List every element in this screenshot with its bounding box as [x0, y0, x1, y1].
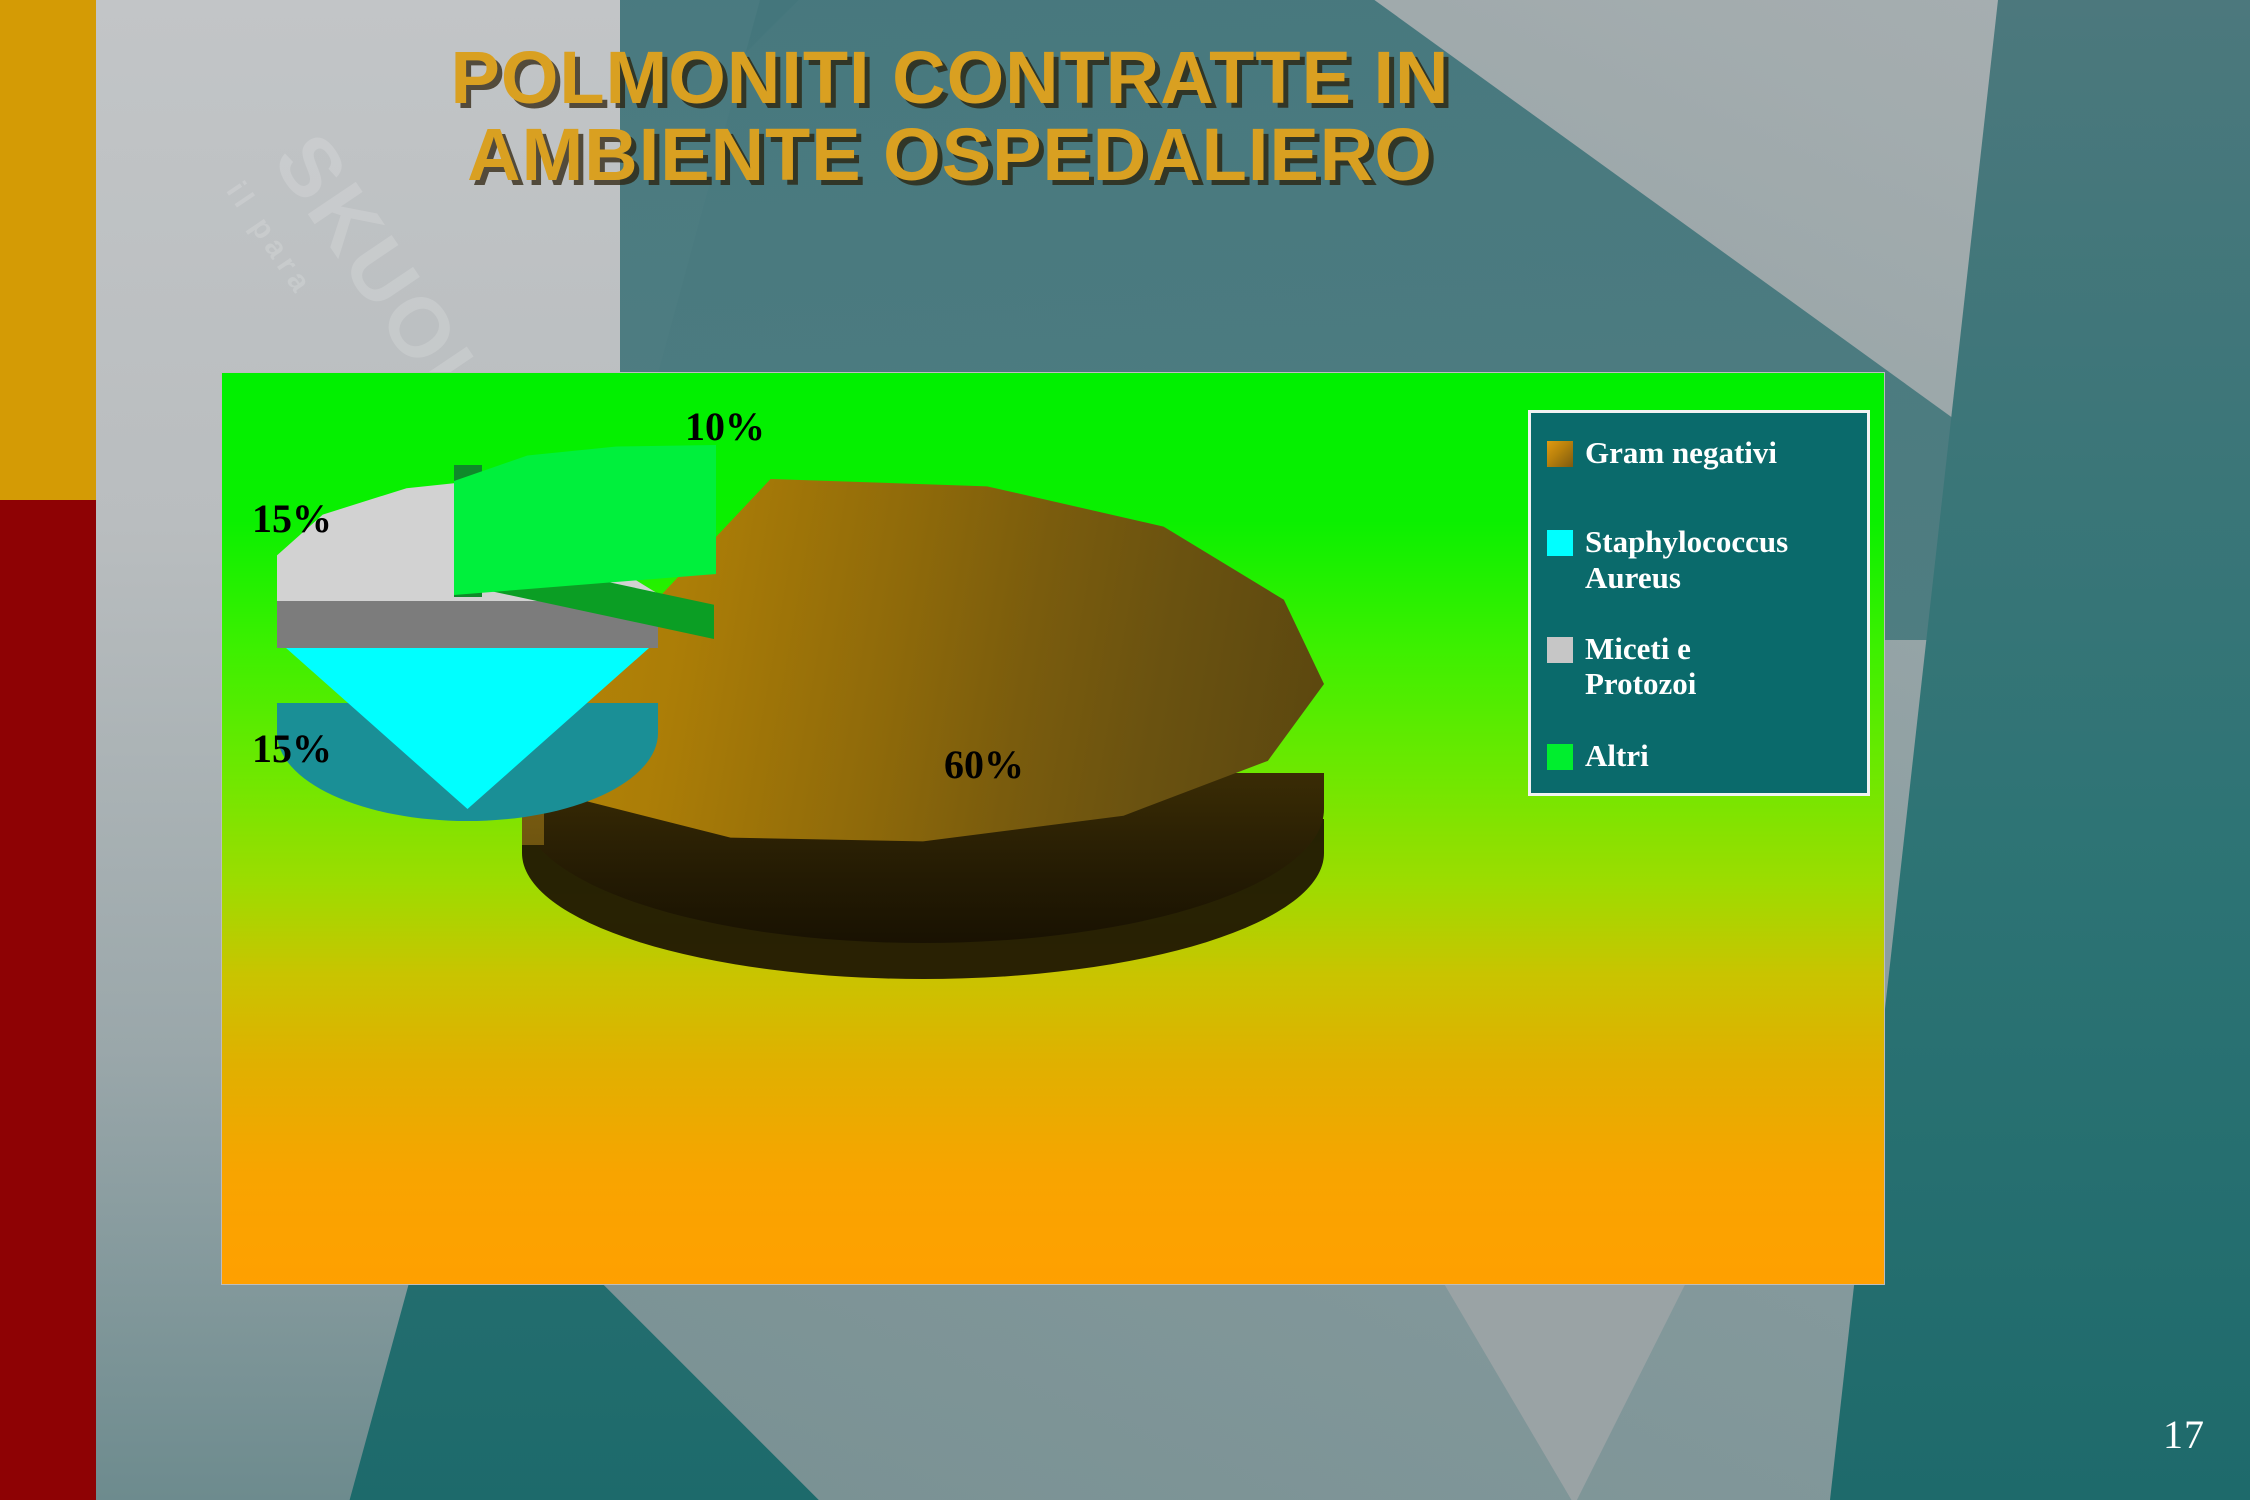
legend-item-miceti[interactable]: Miceti e Protozoi: [1547, 631, 1849, 702]
legend-swatch-staphylococcus-icon: [1547, 530, 1573, 556]
sidebar-red-bar: [0, 500, 96, 1500]
legend-item-gram-negativi[interactable]: Gram negativi: [1547, 435, 1849, 470]
slide-title: POLMONITI CONTRATTE IN AMBIENTE OSPEDALI…: [300, 40, 1600, 194]
legend-label-altri: Altri: [1585, 738, 1649, 773]
legend-swatch-altri-icon: [1547, 744, 1573, 770]
pie-chart: 10% 15% 15% 60% Gram negativi Staphyloco…: [221, 372, 1885, 1285]
legend-label-gram-negativi: Gram negativi: [1585, 435, 1777, 470]
sidebar-gold-bar: [0, 0, 96, 500]
legend-label-staphylococcus: Staphylococcus Aureus: [1585, 524, 1788, 595]
chart-legend: Gram negativi Staphylococcus Aureus Mice…: [1528, 410, 1870, 796]
legend-item-altri[interactable]: Altri: [1547, 738, 1849, 773]
legend-label-miceti: Miceti e Protozoi: [1585, 631, 1696, 702]
page-number: 17: [2163, 1411, 2205, 1458]
pie-plot-area: 10% 15% 15% 60% Gram negativi Staphyloco…: [222, 373, 1884, 1284]
data-label-altri: 10%: [685, 403, 765, 450]
data-label-miceti: 15%: [252, 495, 332, 542]
data-label-staphylococcus: 15%: [252, 725, 332, 772]
legend-swatch-gram-negativi-icon: [1547, 441, 1573, 467]
data-label-gram-negativi: 60%: [944, 741, 1024, 788]
pie-slice-altri-top[interactable]: [454, 445, 716, 595]
legend-swatch-miceti-icon: [1547, 637, 1573, 663]
legend-item-staphylococcus[interactable]: Staphylococcus Aureus: [1547, 524, 1849, 595]
